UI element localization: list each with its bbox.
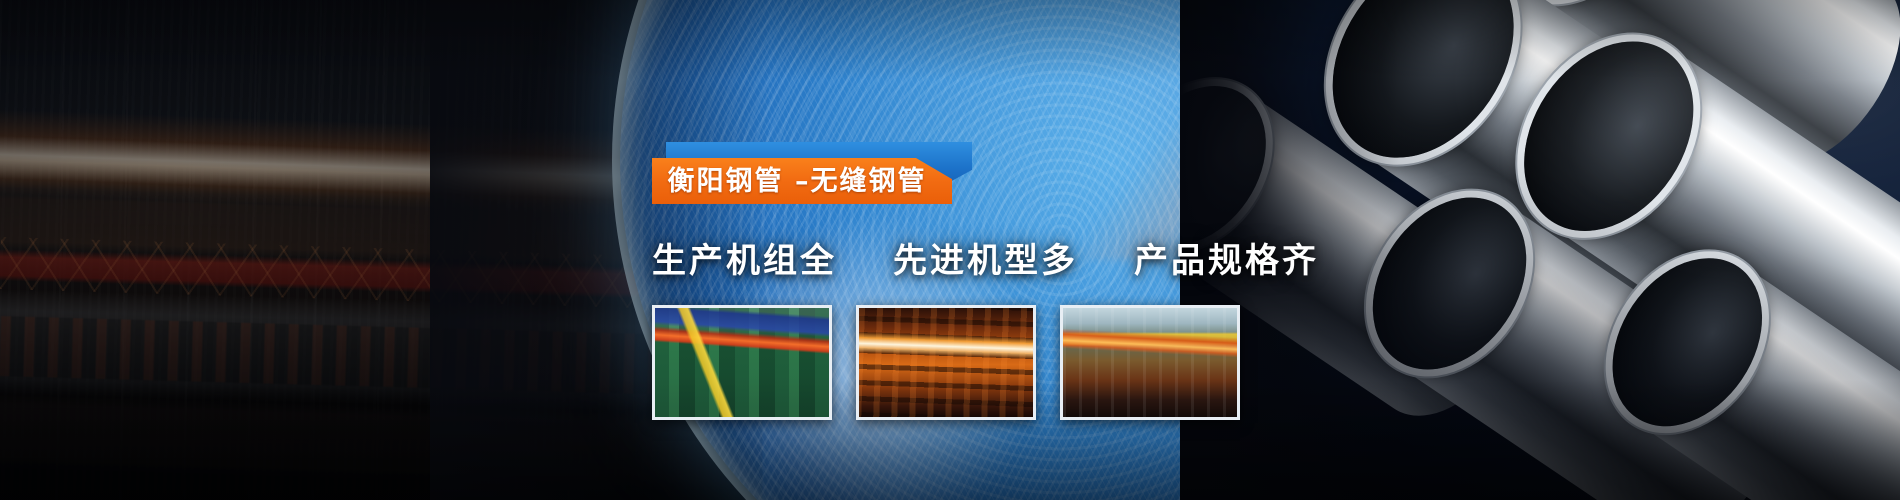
hero-banner: 衡阳钢管 –无缝钢管 生产机组全 先进机型多 产品规格齐 — [0, 0, 1900, 500]
slogan-row: 生产机组全 先进机型多 产品规格齐 — [652, 244, 1319, 278]
banner-content: 衡阳钢管 –无缝钢管 生产机组全 先进机型多 产品规格齐 — [0, 0, 1900, 500]
thumbnail-rolling-line[interactable] — [1060, 305, 1240, 420]
thumbnail-image-1 — [655, 308, 829, 417]
thumbnail-row — [652, 305, 1240, 420]
slogan-item-3: 产品规格齐 — [1134, 244, 1319, 278]
thumbnail-image-2 — [859, 308, 1033, 417]
thumbnail-image-3 — [1063, 308, 1237, 417]
slogan-item-2: 先进机型多 — [893, 244, 1078, 278]
brand-tag-label: 衡阳钢管 –无缝钢管 — [668, 168, 937, 195]
slogan-item-1: 生产机组全 — [652, 244, 837, 278]
thumbnail-hot-rolling[interactable] — [856, 305, 1036, 420]
thumbnail-green-mill[interactable] — [652, 305, 832, 420]
brand-tag: 衡阳钢管 –无缝钢管 — [652, 142, 982, 206]
brand-tag-orange-plate: 衡阳钢管 –无缝钢管 — [652, 158, 952, 204]
